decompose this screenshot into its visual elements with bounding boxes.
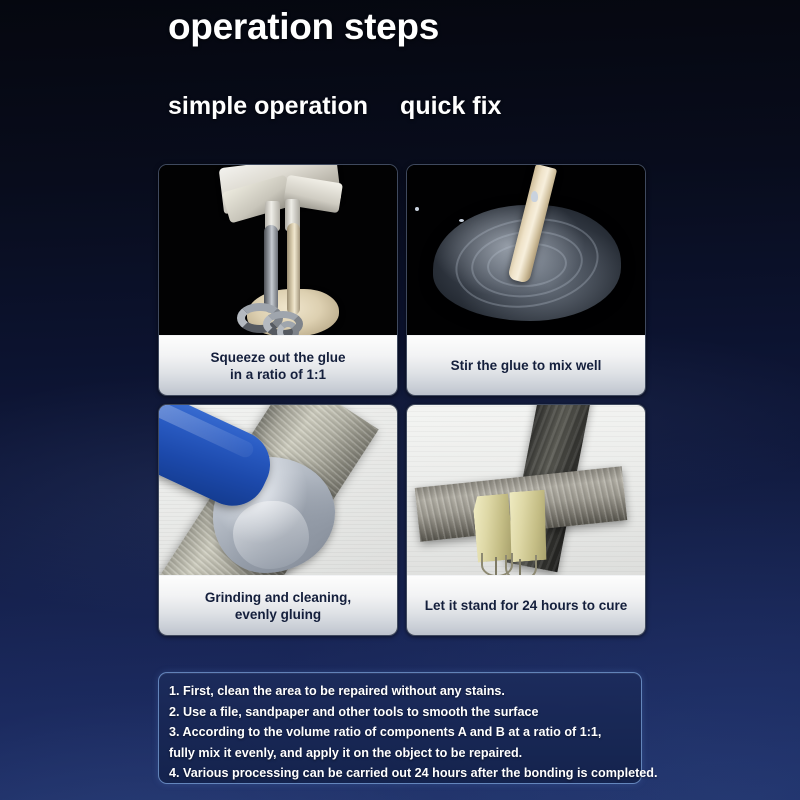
stirring-glue-photo (407, 165, 645, 359)
steps-grid: Squeeze out the glue in a ratio of 1:1 S… (158, 164, 646, 636)
instruction-line: 1. First, clean the area to be repaired … (169, 681, 633, 702)
step-card-4-caption: Let it stand for 24 hours to cure (407, 575, 645, 635)
spatula-applying-glue-photo (159, 405, 397, 577)
step-card-3[interactable]: Grinding and cleaning, evenly gluing (158, 404, 398, 636)
step-card-1[interactable]: Squeeze out the glue in a ratio of 1:1 (158, 164, 398, 396)
step-card-4[interactable]: Let it stand for 24 hours to cure (406, 404, 646, 636)
instruction-line: 2. Use a file, sandpaper and other tools… (169, 702, 633, 723)
step-card-2[interactable]: Stir the glue to mix well (406, 164, 646, 396)
subtitle-simple-operation: simple operation (168, 92, 368, 121)
subtitle-quick-fix: quick fix (400, 92, 501, 121)
page-title: operation steps (168, 6, 439, 48)
step-card-2-caption: Stir the glue to mix well (407, 335, 645, 395)
glue-dispenser-photo (159, 165, 397, 359)
step-card-3-caption: Grinding and cleaning, evenly gluing (159, 575, 397, 635)
instruction-line: 3. According to the volume ratio of comp… (169, 722, 633, 743)
instruction-line: fully mix it evenly, and apply it on the… (169, 743, 633, 764)
instruction-line: 4. Various processing can be carried out… (169, 763, 633, 784)
step-card-1-caption-line1: Squeeze out the glue (210, 349, 345, 366)
subtitle-row: simple operation quick fix (168, 92, 501, 121)
step-card-3-caption-line1: Grinding and cleaning, (205, 589, 351, 606)
step-card-3-caption-line2: evenly gluing (235, 606, 321, 623)
step-card-4-caption-line1: Let it stand for 24 hours to cure (425, 597, 628, 614)
clamped-bars-photo (407, 405, 645, 577)
step-card-2-caption-line1: Stir the glue to mix well (451, 357, 602, 374)
step-card-1-caption-line2: in a ratio of 1:1 (230, 366, 326, 383)
page-root: operation steps simple operation quick f… (0, 0, 800, 800)
instructions-box: 1. First, clean the area to be repaired … (158, 672, 642, 784)
step-card-1-caption: Squeeze out the glue in a ratio of 1:1 (159, 335, 397, 395)
